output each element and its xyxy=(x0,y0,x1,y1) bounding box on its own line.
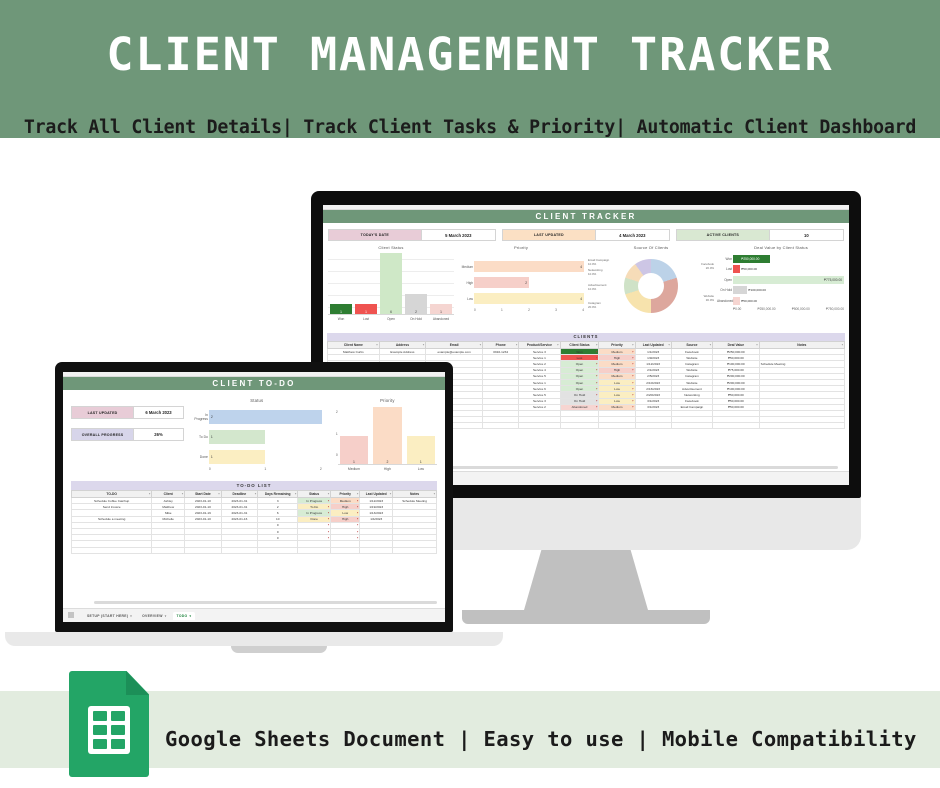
bar-value: 1 xyxy=(330,304,352,314)
bar-value: 1 xyxy=(340,436,368,465)
x-tick-label: 3 xyxy=(555,308,557,312)
table-cell[interactable] xyxy=(258,547,298,553)
bar-row: To Do 1 xyxy=(209,429,322,444)
bar-row: Medium 4 xyxy=(474,260,584,273)
kpi-row: TODAY'S DATE 5 March 2023 LAST UPDATED 4… xyxy=(323,223,849,245)
bar-row: Done 1 xyxy=(209,449,322,464)
section-label-todo-list: TO-DO LIST xyxy=(71,481,437,490)
bar-row: Low 4 xyxy=(474,292,584,305)
todo-table-body[interactable]: Schedule Coffee CatchupAshley2023-01-102… xyxy=(72,498,437,554)
bar-value: 1 xyxy=(209,430,265,444)
y-tick-label: High xyxy=(458,281,473,285)
table-cell[interactable] xyxy=(671,423,712,429)
bar-value: 2 xyxy=(373,407,401,464)
tab-menu-icon[interactable] xyxy=(67,611,75,619)
bar-value: ₱775,000.00 xyxy=(733,276,844,284)
col-source[interactable]: Source xyxy=(671,342,712,349)
footer-text: Google Sheets Document | Easy to use | M… xyxy=(165,727,917,751)
horizontal-scrollbar[interactable] xyxy=(94,601,438,604)
col-last-updated[interactable]: Last Updated xyxy=(360,491,393,498)
col-priority[interactable]: Priority xyxy=(599,342,635,349)
bar-row: High 2 xyxy=(474,276,584,289)
x-axis: 0 1 2 3 4 xyxy=(474,308,584,312)
bar-column: 1 xyxy=(355,253,377,314)
slice-label: Networking10.0% xyxy=(588,269,602,276)
x-tick-label: Medium xyxy=(340,467,368,471)
todo-table[interactable]: TO-DO Client Start Date Deadline Days Re… xyxy=(71,490,437,554)
chart-source-of-clients: Source Of Clients Email Campaign10.0% Ne… xyxy=(588,245,714,329)
device-stage: CLIENT TRACKER TODAY'S DATE 5 March 2023… xyxy=(0,138,940,672)
x-tick-label: On Hold xyxy=(405,317,427,321)
kpi-active-clients: ACTIVE CLIENTS 10 xyxy=(676,229,844,241)
table-cell[interactable] xyxy=(185,547,222,553)
sheet-tab-setup-start-here[interactable]: SETUP (START HERE)▾ xyxy=(83,612,136,620)
bar-value: 1 xyxy=(430,304,452,314)
col-start-date[interactable]: Start Date xyxy=(185,491,222,498)
kpi-label: TODAY'S DATE xyxy=(329,230,421,240)
chart-todo-priority: 2 1 0 Priority 1 xyxy=(330,398,437,471)
section-label-clients: CLIENTS xyxy=(327,333,845,341)
kpi-value: 4 March 2023 xyxy=(595,230,669,240)
x-tick-label: Lost xyxy=(355,317,377,321)
x-tick-label: ₱0.00 xyxy=(733,307,741,311)
col-product-service[interactable]: Product/Service xyxy=(519,342,560,349)
vertical-bars: 1 2 1 xyxy=(338,407,437,465)
cell-status[interactable] xyxy=(298,535,331,541)
chart-title: Priority xyxy=(338,398,437,403)
x-tick-label: 0 xyxy=(474,308,476,312)
chevron-down-icon[interactable]: ▾ xyxy=(189,614,191,618)
kpi-label: LAST UPDATED xyxy=(503,230,595,240)
slice-label: Facebook20.0% xyxy=(701,263,714,270)
macbook-bezel: CLIENT TO-DO LAST UPDATED 6 March 2023 O… xyxy=(55,362,453,632)
sheet-tab-overview[interactable]: OVERVIEW▾ xyxy=(138,612,170,620)
bar-row: In Progress 2 xyxy=(209,409,322,424)
kpi-last-updated: LAST UPDATED 4 March 2023 xyxy=(502,229,670,241)
kpi-value: 5 March 2023 xyxy=(421,230,495,240)
bar-row: On Hold ₱100,000.00 xyxy=(733,286,844,295)
cell-priority[interactable] xyxy=(331,535,360,541)
bar-value: 1 xyxy=(355,304,377,314)
vertical-bars: 1 1 6 2 xyxy=(328,253,454,315)
table-cell[interactable] xyxy=(759,423,844,429)
chart-status: Status In Progress 2 To Do 1 xyxy=(192,398,322,471)
bar-column: 2 xyxy=(405,253,427,314)
col-deal-value[interactable]: Deal Value xyxy=(713,342,760,349)
macbook-screen: CLIENT TO-DO LAST UPDATED 6 March 2023 O… xyxy=(63,372,445,622)
chart-priority: Priority Medium 4 High 2 xyxy=(458,245,584,329)
bar-value: 2 xyxy=(474,277,529,288)
table-cell[interactable] xyxy=(152,547,185,553)
header-banner: CLIENT MANAGEMENT TRACKER Track All Clie… xyxy=(0,0,940,138)
chart-title: Priority xyxy=(458,245,584,250)
chevron-down-icon[interactable]: ▾ xyxy=(165,614,167,618)
chart-title: Client Status xyxy=(328,245,454,250)
kpi-label: LAST UPDATED xyxy=(72,407,133,418)
macbook-device: CLIENT TO-DO LAST UPDATED 6 March 2023 O… xyxy=(55,362,503,653)
bar-column: 1 xyxy=(330,253,352,314)
table-cell[interactable] xyxy=(360,547,393,553)
y-tick-label: On Hold xyxy=(717,288,732,292)
col-last-updated[interactable]: Last Updated xyxy=(635,342,671,349)
bar-value: 2 xyxy=(405,294,427,314)
x-tick-label: 1 xyxy=(264,467,266,471)
col-address[interactable]: Address xyxy=(379,342,426,349)
x-tick-label: 0 xyxy=(209,467,211,471)
table-header-row: TO-DO Client Start Date Deadline Days Re… xyxy=(72,491,437,498)
table-cell[interactable] xyxy=(393,547,437,553)
bar-value: ₱50,000.00 xyxy=(741,267,757,271)
x-tick-label: 1 xyxy=(501,308,503,312)
y-tick-label: Lost xyxy=(717,267,732,271)
col-client-status[interactable]: Client Status xyxy=(560,342,599,349)
macbook-base xyxy=(5,632,503,646)
x-tick-label: ₱500,000.00 xyxy=(792,307,810,311)
todo-kpi-column: LAST UPDATED 6 March 2023 OVERALL PROGRE… xyxy=(71,398,184,471)
table-cell[interactable] xyxy=(221,547,258,553)
y-tick-label: Open xyxy=(717,278,732,282)
kpi-label: ACTIVE CLIENTS xyxy=(677,230,769,240)
col-notes[interactable]: Notes xyxy=(393,491,437,498)
sheet-tab-bar[interactable]: SETUP (START HERE)▾OVERVIEW▾TODO▾ xyxy=(63,608,445,622)
google-sheets-grid-icon xyxy=(88,706,130,754)
x-tick-label: Low xyxy=(407,467,435,471)
col-deadline[interactable]: Deadline xyxy=(221,491,258,498)
y-tick-label: 1 xyxy=(330,432,338,436)
bar-column: 6 xyxy=(380,253,402,314)
bar-value: ₱50,000.00 xyxy=(741,299,757,303)
bar-row: Open ₱775,000.00 xyxy=(733,275,844,284)
y-tick-label: Medium xyxy=(458,265,473,269)
kpi-value: 26% xyxy=(133,429,183,440)
y-tick-label: In Progress xyxy=(192,413,208,421)
slice-label: Email Campaign10.0% xyxy=(588,259,609,266)
col-days-remaining[interactable]: Days Remaining xyxy=(258,491,298,498)
table-cell[interactable] xyxy=(331,547,360,553)
x-tick-label: Won xyxy=(330,317,352,321)
kpi-last-updated: LAST UPDATED 6 March 2023 xyxy=(71,406,184,419)
x-tick-label: 2 xyxy=(528,308,530,312)
chevron-down-icon[interactable]: ▾ xyxy=(130,614,132,618)
bar-value: 1 xyxy=(407,436,435,465)
chart-title: Deal Value by Client Status xyxy=(718,245,844,250)
bar-row: Won ₱250,000.00 xyxy=(733,254,844,263)
chart-title: Status xyxy=(192,398,322,403)
bar-value: 6 xyxy=(380,253,402,314)
slice-label: Advertisement10.0% xyxy=(588,284,606,291)
y-tick-label: 2 xyxy=(330,410,338,414)
table-header-row: Client Name Address Email Phone Product/… xyxy=(328,342,845,349)
imac-stand-neck xyxy=(524,550,648,610)
table-cell[interactable] xyxy=(519,423,560,429)
x-tick-label: 2 xyxy=(320,467,322,471)
table-row[interactable] xyxy=(72,547,437,553)
donut-ring xyxy=(624,259,678,313)
bar-value: 2 xyxy=(209,410,322,424)
kpi-value: 6 March 2023 xyxy=(133,407,183,418)
slice-label: Instagram20.0% xyxy=(588,302,601,309)
col-status[interactable]: Status xyxy=(298,491,331,498)
page-title: CLIENT MANAGEMENT TRACKER xyxy=(106,28,833,81)
sheet-tab-todo[interactable]: TODO▾ xyxy=(173,612,196,620)
col-email[interactable]: Email xyxy=(426,342,483,349)
table-cell[interactable] xyxy=(713,423,760,429)
bar-value: 1 xyxy=(209,450,265,464)
table-cell[interactable] xyxy=(560,423,599,429)
x-tick-label: 4 xyxy=(582,308,584,312)
sheet-title-client-todo: CLIENT TO-DO xyxy=(63,377,445,390)
col-todo[interactable]: TO-DO xyxy=(72,491,152,498)
chart-title: Source Of Clients xyxy=(588,245,714,250)
col-priority[interactable]: Priority xyxy=(331,491,360,498)
sheet-tab-label: SETUP (START HERE) xyxy=(87,614,128,618)
bar-value: 4 xyxy=(474,293,584,304)
bar-value: ₱250,000.00 xyxy=(733,255,770,263)
col-client[interactable]: Client xyxy=(152,491,185,498)
bar-row: Abandoned ₱50,000.00 xyxy=(733,296,844,305)
bar-value: 4 xyxy=(474,261,584,272)
y-tick-label: Abandoned xyxy=(717,299,732,303)
table-cell[interactable] xyxy=(298,547,331,553)
cell-client-status[interactable]: Abandoned xyxy=(560,404,599,410)
bar-column: 1 xyxy=(407,407,435,464)
y-tick-label: Done xyxy=(192,455,208,459)
kpi-todays-date: TODAY'S DATE 5 March 2023 xyxy=(328,229,496,241)
x-tick-label: High xyxy=(373,467,401,471)
x-axis: 0 1 2 xyxy=(209,467,322,471)
bar-column: 1 xyxy=(340,407,368,464)
cell-priority[interactable]: Medium xyxy=(599,404,635,410)
page-subtitle: Track All Client Details| Track Client T… xyxy=(24,117,916,138)
donut-chart: Email Campaign10.0% Networking10.0% Adve… xyxy=(588,253,714,319)
y-tick-label: 0 xyxy=(330,453,338,457)
chart-client-status: Client Status 1 1 xyxy=(328,245,454,329)
bar-column: 2 xyxy=(373,407,401,464)
y-tick-label: Low xyxy=(458,297,473,301)
y-tick-label: To Do xyxy=(192,435,208,439)
sheet-title-client-tracker: CLIENT TRACKER xyxy=(323,210,849,223)
macbook-notch xyxy=(231,646,327,653)
bar-column: 1 xyxy=(430,253,452,314)
kpi-label: OVERALL PROGRESS xyxy=(72,429,133,440)
x-tick-label: ₱250,000.00 xyxy=(757,307,775,311)
sheet-tab-label: OVERVIEW xyxy=(142,614,163,618)
horizontal-bars: In Progress 2 To Do 1 Done 1 xyxy=(192,409,322,471)
x-axis: ₱0.00 ₱250,000.00 ₱500,000.00 ₱750,000.0… xyxy=(733,307,844,311)
bar-row: Lost ₱50,000.00 xyxy=(733,265,844,274)
x-tick-label: Abandoned xyxy=(430,317,452,321)
kpi-value: 10 xyxy=(769,230,843,240)
client-todo-sheet[interactable]: CLIENT TO-DO LAST UPDATED 6 March 2023 O… xyxy=(63,372,445,622)
x-tick-label: Open xyxy=(380,317,402,321)
dashboard-charts: Client Status 1 1 xyxy=(323,245,849,329)
horizontal-bars: Won ₱250,000.00 Lost ₱50,000.00 Open xyxy=(718,254,844,311)
slice-label: Website30.0% xyxy=(704,295,714,302)
table-cell[interactable] xyxy=(72,547,152,553)
sheet-tab-label: TODO xyxy=(177,614,188,618)
table-cell[interactable] xyxy=(635,423,671,429)
col-client-name[interactable]: Client Name xyxy=(328,342,380,349)
col-phone[interactable]: Phone xyxy=(483,342,519,349)
chart-deal-value: Deal Value by Client Status Won ₱250,000… xyxy=(718,245,844,329)
x-tick-label: ₱750,000.00 xyxy=(826,307,844,311)
y-tick-label: Won xyxy=(717,257,732,261)
horizontal-bars: Medium 4 High 2 Low 4 xyxy=(458,260,584,312)
col-notes[interactable]: Notes xyxy=(759,342,844,349)
kpi-overall-progress: OVERALL PROGRESS 26% xyxy=(71,428,184,441)
table-cell[interactable] xyxy=(599,423,635,429)
bar-value: ₱100,000.00 xyxy=(748,288,766,292)
